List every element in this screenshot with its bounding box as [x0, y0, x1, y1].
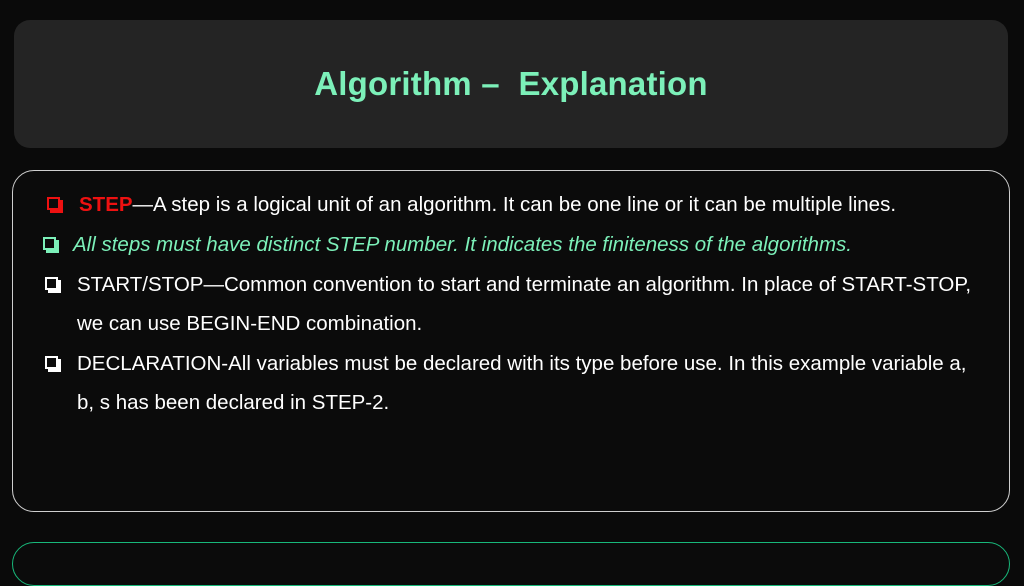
hollow-square-bullet-icon [45, 277, 58, 290]
hollow-square-bullet-icon [43, 237, 56, 250]
list-item: START/STOP—Common convention to start an… [35, 265, 987, 343]
bullet-list: STEP—A step is a logical unit of an algo… [35, 185, 987, 422]
presentation-slide: Algorithm – Explanation STEP—A step is a… [0, 0, 1024, 576]
list-item: All steps must have distinct STEP number… [35, 225, 987, 264]
list-item-body: —A step is a logical unit of an algorith… [133, 193, 896, 216]
hollow-square-bullet-icon [45, 356, 58, 369]
list-item-keyword: STEP [79, 193, 133, 216]
page-title: Algorithm – Explanation [314, 66, 708, 102]
hollow-square-bullet-icon [47, 197, 60, 210]
list-item-body: All steps must have distinct STEP number… [73, 233, 852, 256]
list-item-body: DECLARATION-All variables must be declar… [77, 352, 966, 414]
bottom-accent-bar [12, 542, 1010, 586]
list-item-body: START/STOP—Common convention to start an… [77, 273, 971, 335]
slide-content-panel: STEP—A step is a logical unit of an algo… [12, 170, 1010, 512]
list-item-text: STEP—A step is a logical unit of an algo… [79, 193, 896, 216]
list-item: DECLARATION-All variables must be declar… [35, 344, 987, 422]
list-item: STEP—A step is a logical unit of an algo… [35, 185, 987, 224]
slide-title-panel: Algorithm – Explanation [14, 20, 1008, 148]
